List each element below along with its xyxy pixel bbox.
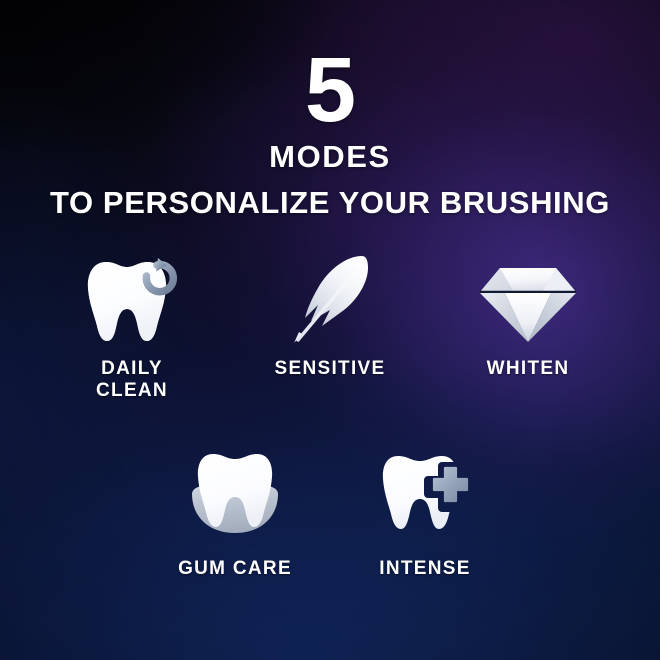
modes-row-one: DAILY CLEAN [0, 248, 660, 402]
mode-item-gum-care: GUM CARE [159, 444, 311, 580]
headline-block: 5 MODES TO PERSONALIZE YOUR BRUSHING [0, 0, 660, 221]
mode-item-intense: INTENSE [349, 444, 501, 580]
modes-grid: DAILY CLEAN [0, 248, 660, 580]
tooth-plus-icon [370, 444, 480, 544]
promo-graphic: 5 MODES TO PERSONALIZE YOUR BRUSHING [0, 0, 660, 660]
modes-word: MODES [0, 139, 660, 175]
mode-label-whiten: WHITEN [487, 358, 570, 380]
mode-item-whiten: WHITEN [452, 248, 604, 380]
diamond-icon [472, 248, 584, 348]
mode-label-gum-care: GUM CARE [178, 558, 292, 580]
mode-item-daily-clean: DAILY CLEAN [56, 248, 208, 402]
mode-label-sensitive: SENSITIVE [275, 358, 386, 380]
tooth-gum-icon [180, 444, 290, 544]
mode-label-daily-clean: DAILY CLEAN [96, 358, 168, 402]
modes-row-two: GUM CARE [0, 444, 660, 580]
mode-item-sensitive: SENSITIVE [254, 248, 406, 380]
headline-tagline: TO PERSONALIZE YOUR BRUSHING [0, 185, 660, 221]
feather-icon [278, 248, 382, 348]
mode-count-number: 5 [0, 0, 660, 133]
mode-label-intense: INTENSE [379, 558, 470, 580]
tooth-refresh-icon [80, 248, 184, 348]
